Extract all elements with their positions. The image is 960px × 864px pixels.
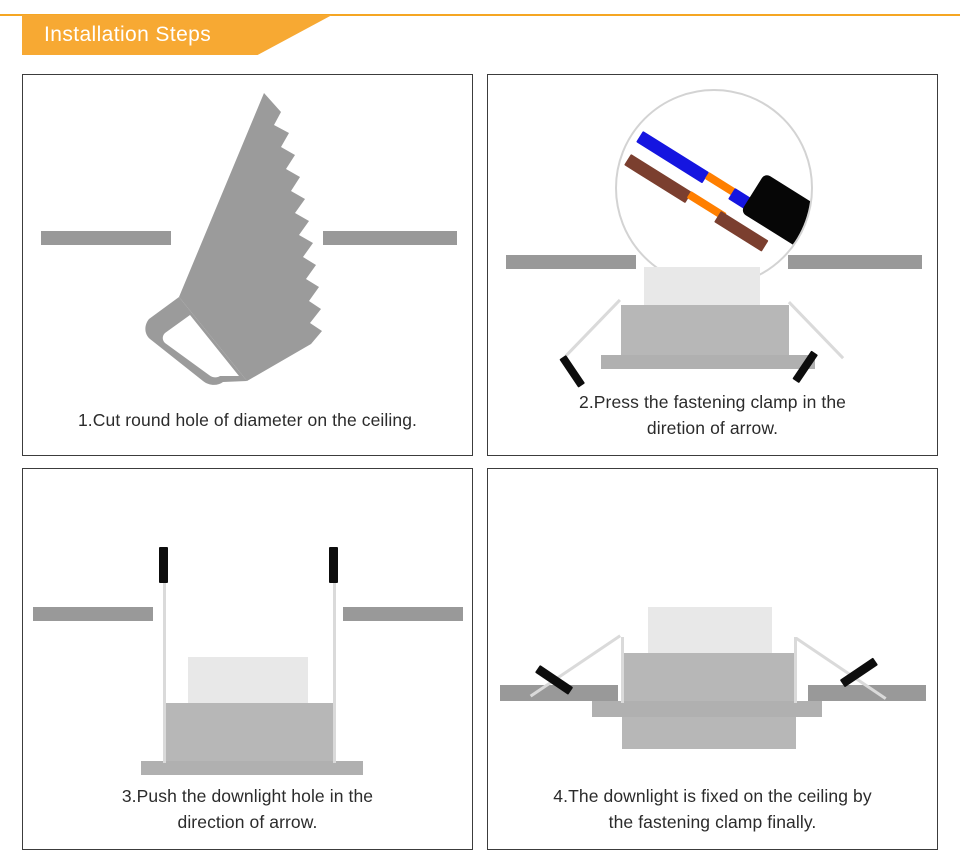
fastening-clamp-left-arrow: [159, 547, 168, 583]
step-3-caption-line-2: direction of arrow.: [31, 809, 464, 835]
fastening-clamp-left-vertical: [621, 637, 624, 703]
ceiling-segment-left: [33, 607, 153, 621]
step-4-caption-line-2: the fastening clamp finally.: [496, 809, 929, 835]
step-2-caption-line-1: 2.Press the fastening clamp in the: [496, 389, 929, 415]
fastening-clamp-left: [565, 299, 621, 357]
fastening-clamp-right-arrow: [329, 547, 338, 583]
step-4-caption-line-1: 4.The downlight is fixed on the ceiling …: [496, 783, 929, 809]
downlight-driver-box: [188, 657, 308, 707]
downlight-body: [621, 305, 789, 357]
ceiling-segment-right: [788, 255, 922, 269]
page-title: Installation Steps: [44, 15, 211, 55]
cable-sheath: [741, 173, 813, 263]
step-2-caption-line-2: diretion of arrow.: [496, 415, 929, 441]
step-3-caption-line-1: 3.Push the downlight hole in the: [31, 783, 464, 809]
fastening-clamp-left: [163, 575, 166, 763]
hand-saw-icon: [143, 85, 363, 385]
fastening-clamp-right: [788, 301, 844, 359]
installation-steps-page: Installation Steps 1.Cut round hole of d…: [0, 0, 960, 864]
fastening-clamp-right: [333, 575, 336, 763]
ceiling-segment-right: [343, 607, 463, 621]
step-1-illustration: [23, 75, 472, 455]
fastening-clamp-right-vertical: [794, 637, 797, 703]
step-1-caption: 1.Cut round hole of diameter on the ceil…: [31, 407, 464, 433]
downlight-flange: [141, 761, 363, 775]
downlight-flange: [592, 701, 822, 717]
step-panel-2: 2.Press the fastening clamp in the diret…: [487, 74, 938, 456]
downlight-driver-box: [644, 267, 760, 309]
step-panel-4: 4.The downlight is fixed on the ceiling …: [487, 468, 938, 850]
downlight-body: [165, 703, 335, 765]
step-panel-1: 1.Cut round hole of diameter on the ceil…: [22, 74, 473, 456]
step-panel-3: 3.Push the downlight hole in the directi…: [22, 468, 473, 850]
downlight-flange: [601, 355, 815, 369]
step-3-caption: 3.Push the downlight hole in the directi…: [31, 783, 464, 835]
step-4-caption: 4.The downlight is fixed on the ceiling …: [496, 783, 929, 835]
step-2-caption: 2.Press the fastening clamp in the diret…: [496, 389, 929, 441]
cable-magnifier: [615, 89, 813, 287]
downlight-driver-box: [648, 607, 772, 657]
fastening-clamp-left-arrow: [559, 355, 585, 388]
ceiling-segment-left: [506, 255, 636, 269]
